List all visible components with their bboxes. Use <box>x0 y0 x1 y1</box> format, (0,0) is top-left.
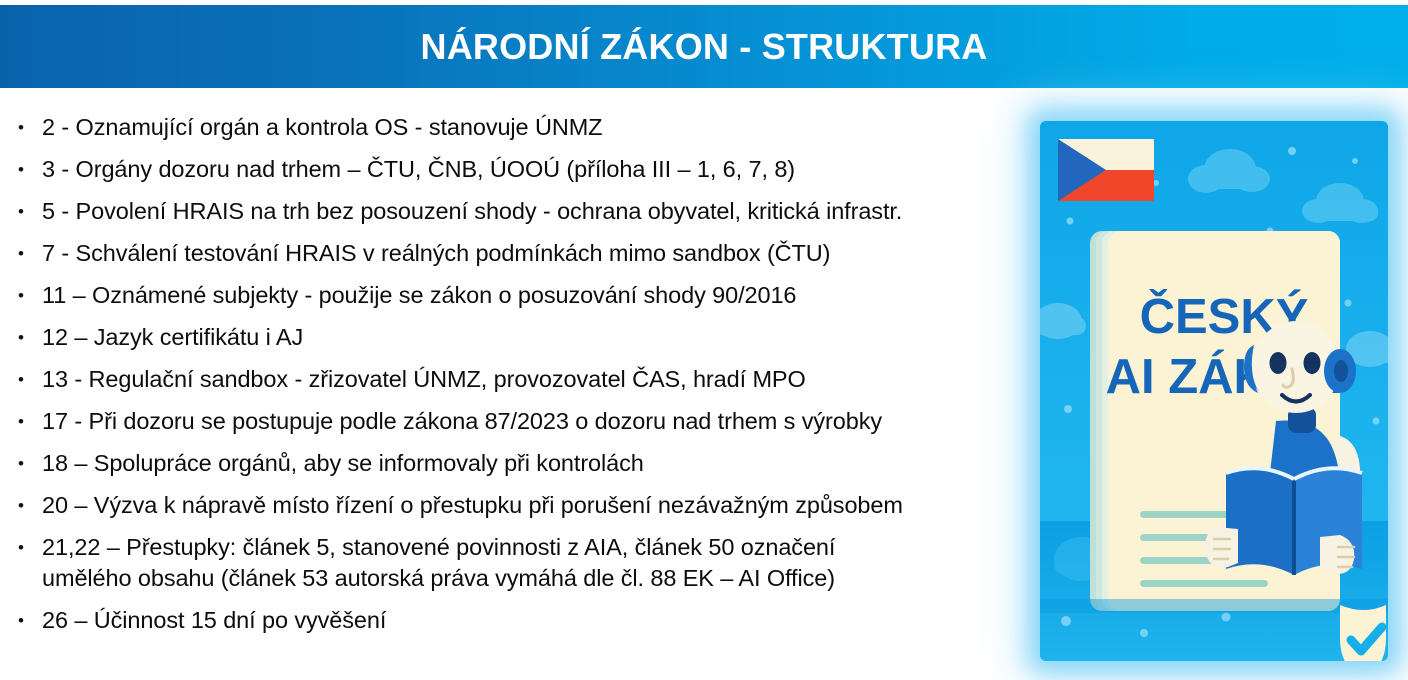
list-item-label: 5 - Povolení HRAIS na trh bez posouzení … <box>42 196 902 227</box>
bullet-list: • 2 - Oznamující orgán a kontrola OS - s… <box>0 112 1035 647</box>
list-item-label: 17 - Při dozoru se postupuje podle zákon… <box>42 406 882 437</box>
list-item: • 20 – Výzva k nápravě místo řízení o př… <box>0 490 1035 521</box>
bullet-dot-icon: • <box>0 154 42 185</box>
bullet-dot-icon: • <box>0 280 42 311</box>
list-item-label: 12 – Jazyk certifikátu i AJ <box>42 322 303 353</box>
bullet-dot-icon: • <box>0 112 42 143</box>
list-item: • 12 – Jazyk certifikátu i AJ <box>0 322 1035 353</box>
list-item-label: 11 – Oznámené subjekty - použije se záko… <box>42 280 796 311</box>
bullet-dot-icon: • <box>0 490 42 521</box>
czech-flag-icon <box>1058 139 1154 201</box>
bullet-dot-icon: • <box>0 196 42 227</box>
bullet-dot-icon: • <box>0 605 42 636</box>
bullet-dot-icon: • <box>0 322 42 353</box>
bullet-dot-icon: • <box>0 364 42 395</box>
list-item: • 2 - Oznamující orgán a kontrola OS - s… <box>0 112 1035 143</box>
illustration-svg: ČESKÝ AI ZÁKON <box>1040 121 1388 661</box>
list-item-label: 7 - Schválení testování HRAIS v reálných… <box>42 238 830 269</box>
bullet-dot-icon: • <box>0 406 42 437</box>
list-item: • 17 - Při dozoru se postupuje podle zák… <box>0 406 1035 437</box>
list-item: • 21,22 – Přestupky: článek 5, stanovené… <box>0 532 1035 594</box>
list-item: • 7 - Schválení testování HRAIS v reálný… <box>0 238 1035 269</box>
table-shadow <box>1040 599 1388 613</box>
list-item-label: 18 – Spolupráce orgánů, aby se informova… <box>42 448 644 479</box>
list-item-label: 13 - Regulační sandbox - zřizovatel ÚNMZ… <box>42 364 806 395</box>
list-item-label: 21,22 – Přestupky: článek 5, stanovené p… <box>42 532 835 594</box>
list-item: • 5 - Povolení HRAIS na trh bez posouzen… <box>0 196 1035 227</box>
page-title: NÁRODNÍ ZÁKON - STRUKTURA <box>421 29 988 65</box>
list-item-label: 20 – Výzva k nápravě místo řízení o přes… <box>42 490 903 521</box>
list-item: • 3 - Orgány dozoru nad trhem – ČTU, ČNB… <box>0 154 1035 185</box>
list-item-label: 2 - Oznamující orgán a kontrola OS - sta… <box>42 112 602 143</box>
list-item: • 26 – Účinnost 15 dní po vyvěšení <box>0 605 1035 636</box>
list-item-label: 3 - Orgány dozoru nad trhem – ČTU, ČNB, … <box>42 154 795 185</box>
bullet-dot-icon: • <box>0 532 42 563</box>
list-item: • 18 – Spolupráce orgánů, aby se informo… <box>0 448 1035 479</box>
robot-eye-right <box>1304 352 1321 374</box>
illustration-czech-ai-act: ČESKÝ AI ZÁKON <box>1040 121 1388 661</box>
robot-eye-left <box>1270 352 1287 374</box>
shield-check-icon <box>1340 605 1386 661</box>
header-banner: NÁRODNÍ ZÁKON - STRUKTURA <box>0 5 1408 88</box>
bullet-dot-icon: • <box>0 238 42 269</box>
bullet-dot-icon: • <box>0 448 42 479</box>
list-item-label: 26 – Účinnost 15 dní po vyvěšení <box>42 605 386 636</box>
list-item: • 13 - Regulační sandbox - zřizovatel ÚN… <box>0 364 1035 395</box>
list-item: • 11 – Oznámené subjekty - použije se zá… <box>0 280 1035 311</box>
